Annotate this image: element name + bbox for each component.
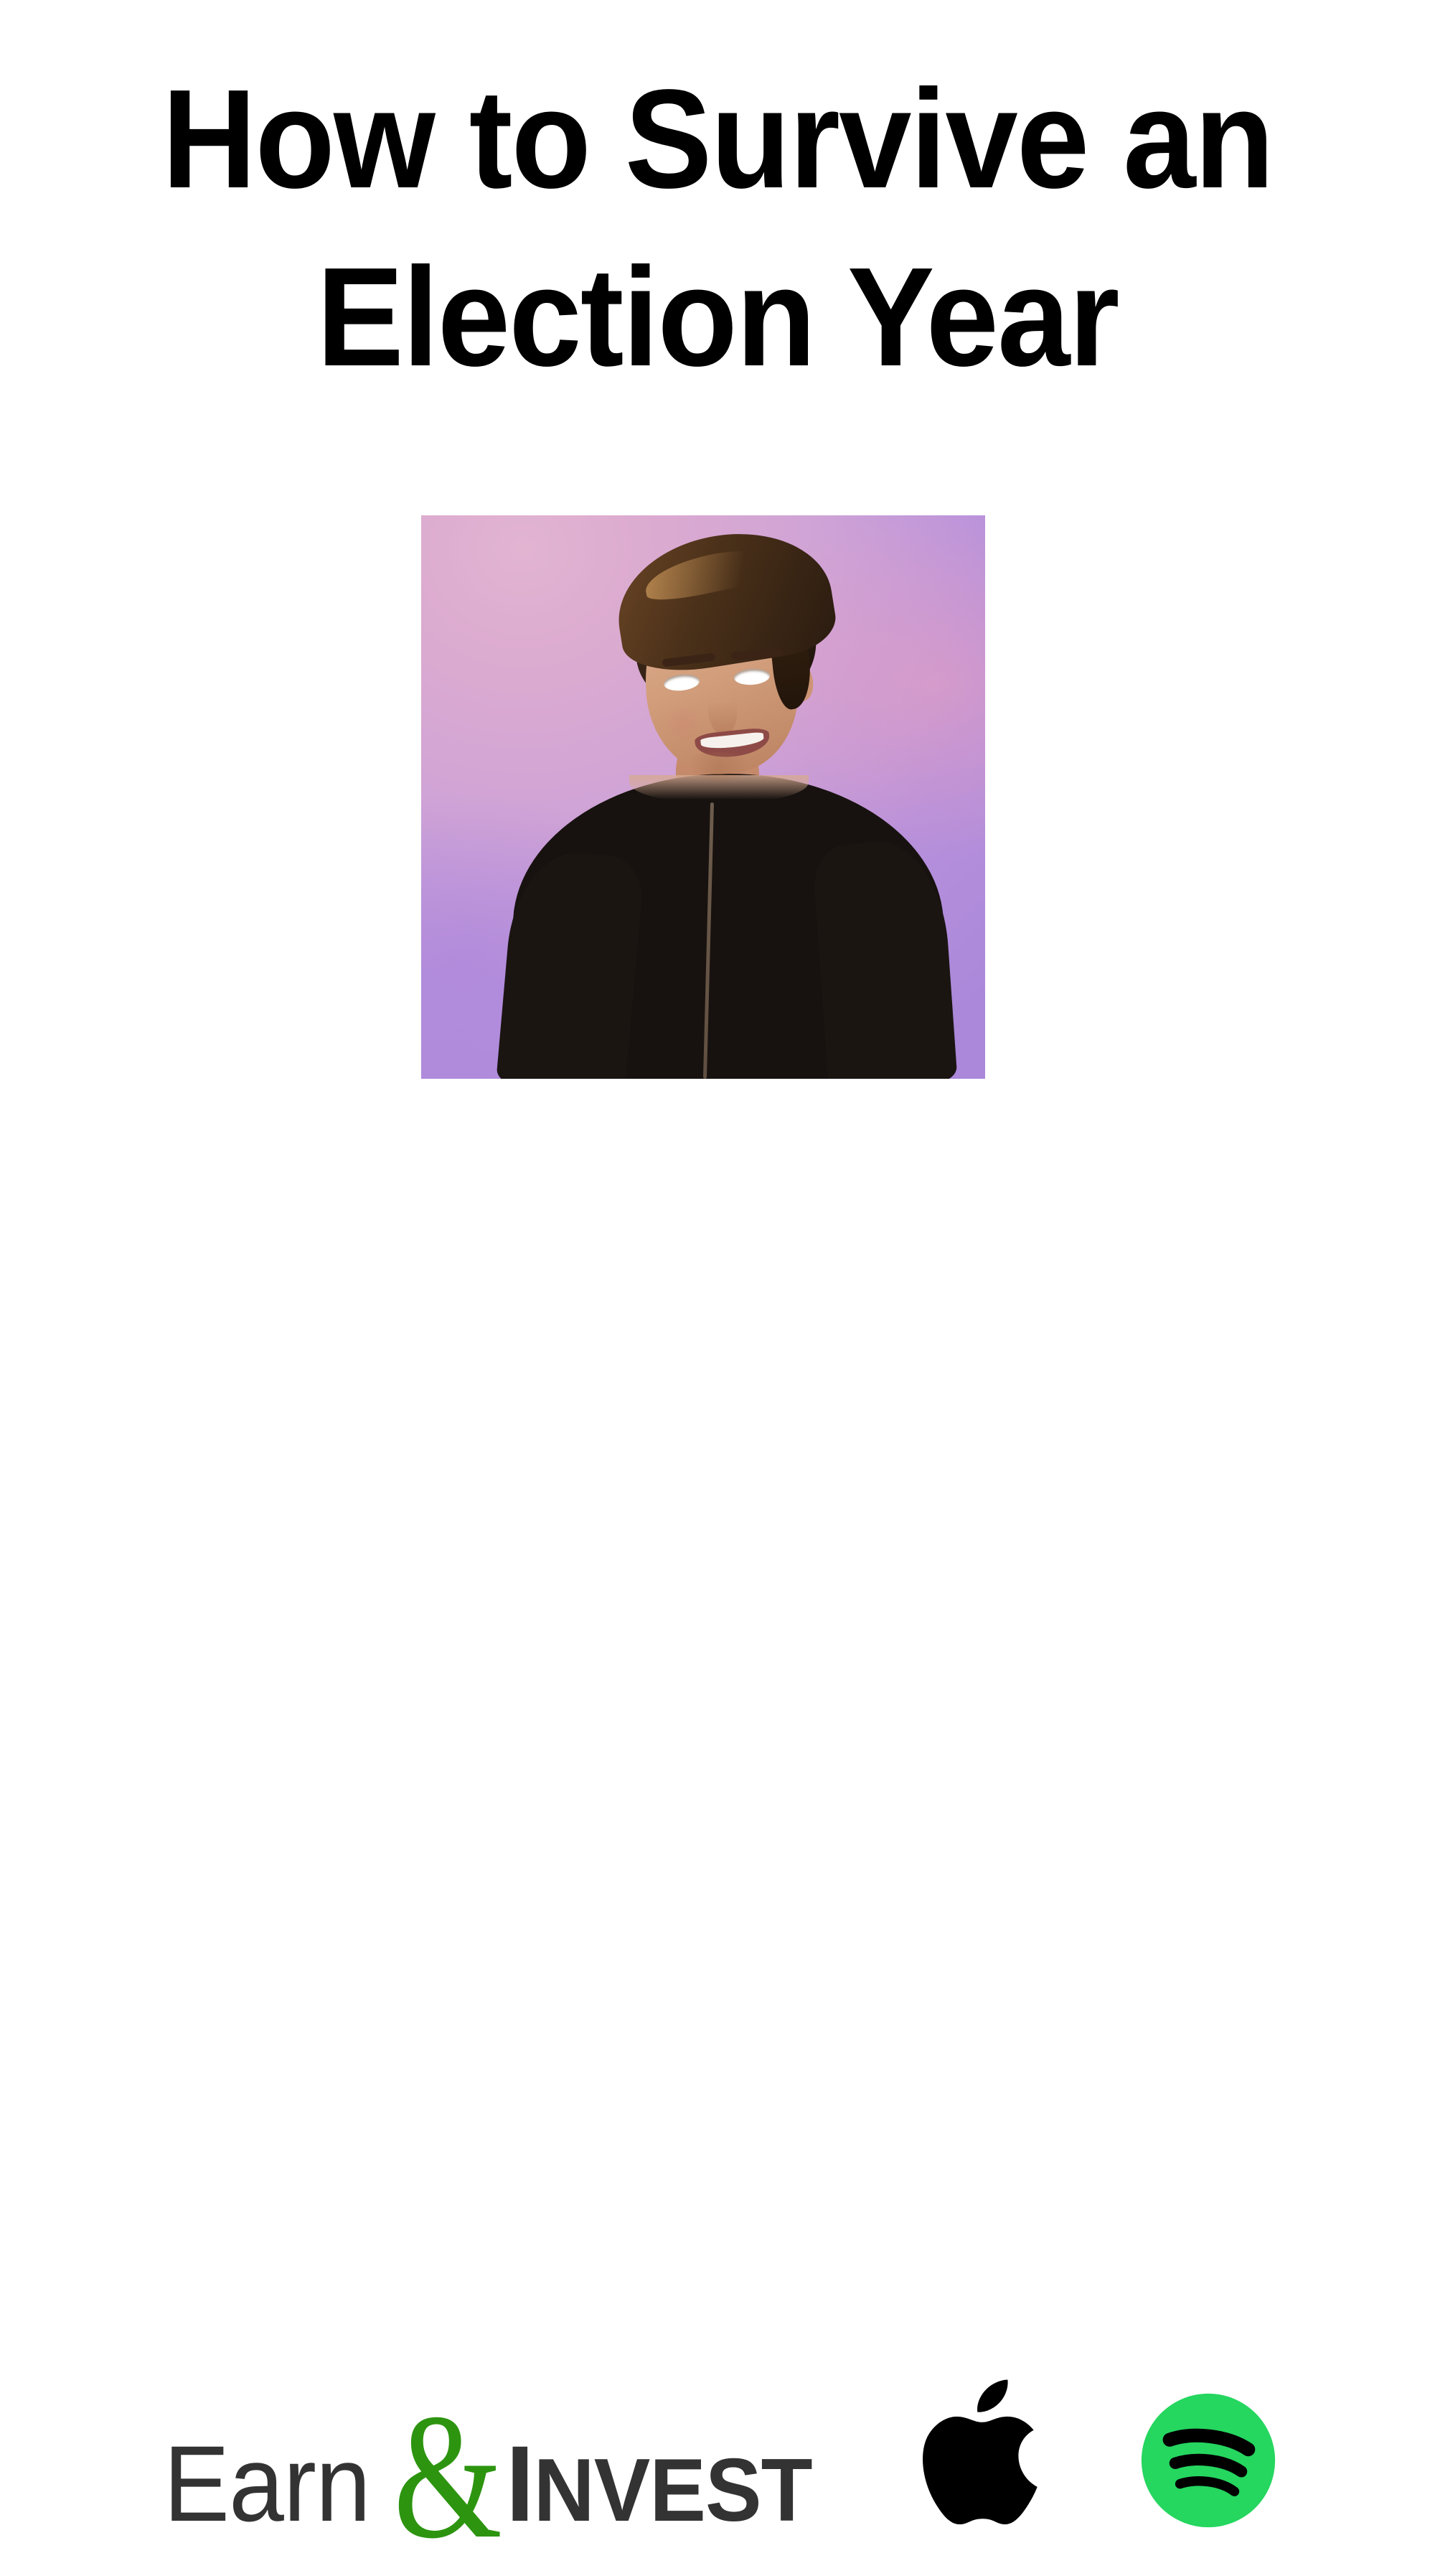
subject-cheek bbox=[658, 708, 708, 739]
logo-invest-rest: NVEST bbox=[534, 2441, 812, 2540]
logo-word-earn: Earn bbox=[164, 2430, 370, 2537]
portrait-subject bbox=[421, 515, 985, 1079]
logo-ampersand: & bbox=[393, 2423, 502, 2531]
subject-iris-right bbox=[744, 669, 759, 684]
spotify-icon[interactable] bbox=[1139, 2392, 1277, 2529]
title-line-1: How to Survive an bbox=[50, 50, 1385, 228]
subject-right-arm bbox=[811, 838, 957, 1079]
page-title: How to Survive an Election Year bbox=[0, 50, 1435, 406]
earn-and-invest-logo: Earn & INVEST bbox=[164, 2407, 828, 2515]
logo-invest-initial: I bbox=[506, 2423, 534, 2544]
subject-left-arm bbox=[496, 848, 645, 1079]
subject-chin-shadow bbox=[679, 752, 758, 781]
podcast-cover-art: How to Survive an Election Year bbox=[0, 0, 1435, 1435]
subject-iris-left bbox=[674, 675, 690, 690]
title-line-2: Election Year bbox=[50, 228, 1385, 406]
apple-icon[interactable] bbox=[918, 2379, 1049, 2531]
subject-teeth bbox=[700, 731, 764, 750]
guest-portrait bbox=[421, 515, 985, 1079]
brand-row: Earn & INVEST bbox=[0, 1191, 1435, 1364]
logo-word-invest: INVEST bbox=[506, 2439, 812, 2535]
